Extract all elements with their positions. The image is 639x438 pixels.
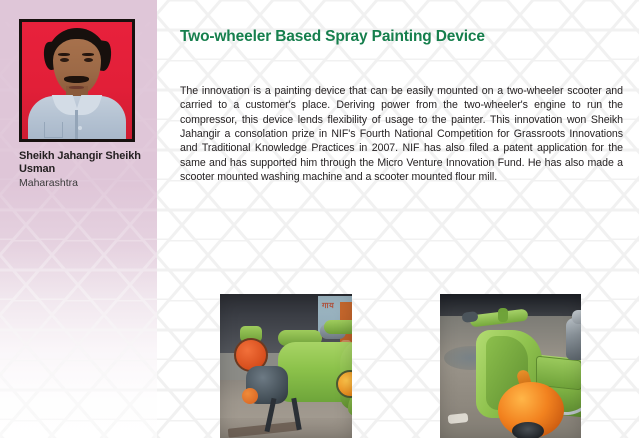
portrait-mouth — [69, 86, 84, 89]
scooter-wheel — [512, 422, 544, 438]
portrait-eyebrow-right — [82, 53, 94, 56]
compressor-motor-head — [572, 310, 581, 324]
article-title: Two-wheeler Based Spray Painting Device — [180, 27, 620, 46]
article-content: Two-wheeler Based Spray Painting Device … — [180, 0, 639, 438]
compressor-secondary-pulley — [242, 388, 258, 404]
innovator-portrait-photo — [22, 22, 132, 139]
scooter-mirror-stalk — [498, 308, 508, 322]
innovator-state: Maharashtra — [19, 177, 151, 189]
innovator-sidebar: Sheikh Jahangir Sheikh Usman Maharashtra — [0, 0, 157, 438]
portrait-eye-left — [60, 58, 69, 62]
article-body-text: The innovation is a painting device that… — [180, 84, 623, 185]
document-page: Sheikh Jahangir Sheikh Usman Maharashtra… — [0, 0, 639, 438]
innovator-name: Sheikh Jahangir Sheikh Usman — [19, 150, 151, 176]
portrait-shirt-placket — [75, 110, 78, 139]
scooter-spray-device-photo-rear — [440, 294, 581, 438]
portrait-shirt-pocket — [44, 122, 63, 138]
portrait-moustache — [64, 76, 89, 83]
scooter-handlebar — [324, 320, 352, 334]
portrait-eyebrow-left — [58, 53, 70, 56]
portrait-eye-right — [84, 58, 93, 62]
compressor-motor — [566, 318, 581, 360]
innovator-portrait-frame — [19, 19, 135, 142]
scooter-spray-device-photo-front: गाय मंदिर — [220, 294, 352, 438]
article-photo-row: गाय मंदिर — [180, 278, 621, 426]
portrait-shirt-button — [78, 126, 82, 130]
photo-wall-signage-red: गाय — [322, 300, 334, 311]
